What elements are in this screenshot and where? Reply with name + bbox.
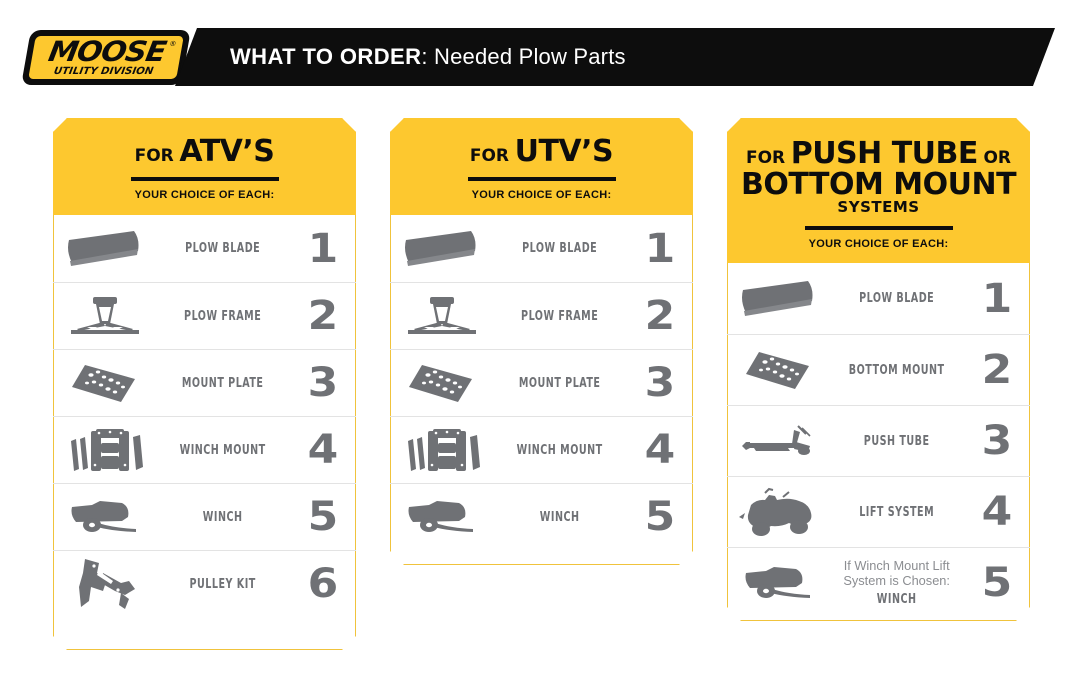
push-tube-icon: [727, 422, 830, 460]
card-push-tube: FOR PUSH TUBE OR BOTTOM MOUNT SYSTEMS YO…: [727, 118, 1030, 621]
row-number: 6: [286, 561, 359, 607]
plow-blade-icon: [390, 229, 493, 269]
page-header: MOOSE UTILITY DIVISION ® WHAT TO ORDER :…: [0, 0, 1080, 100]
card-push-tube-title: FOR PUSH TUBE OR BOTTOM MOUNT SYSTEMS: [727, 138, 1030, 216]
table-row[interactable]: WINCH 5: [53, 483, 356, 550]
moose-utility-division-logo: MOOSE UTILITY DIVISION ®: [21, 30, 191, 85]
mount-plate-icon: [53, 359, 156, 407]
row-number: 1: [623, 226, 696, 272]
row-label-with-note: If Winch Mount Lift System is Chosen: WI…: [842, 559, 951, 607]
row-label: PLOW BLADE: [505, 241, 614, 256]
table-row[interactable]: LIFT SYSTEM 4: [727, 476, 1030, 547]
card-utv-subtitle: YOUR CHOICE OF EACH:: [390, 189, 693, 201]
card-push-tube-rows: PLOW BLADE 1: [727, 263, 1030, 618]
row-label: WINCH MOUNT: [168, 443, 277, 458]
row-note: If Winch Mount Lift System is Chosen:: [831, 559, 962, 589]
table-row[interactable]: WINCH MOUNT 4: [53, 416, 356, 483]
winch-mount-icon: [390, 425, 493, 475]
card-utv: FOR UTV’S YOUR CHOICE OF EACH: PLOW BLAD…: [390, 118, 693, 565]
row-number: 2: [286, 293, 359, 339]
card-utv-header: FOR UTV’S YOUR CHOICE OF EACH:: [390, 118, 693, 215]
row-number: 2: [623, 293, 696, 339]
plow-frame-icon: [53, 294, 156, 338]
row-number: 1: [960, 276, 1033, 322]
lift-system-icon: [727, 487, 830, 537]
plow-frame-icon: [390, 294, 493, 338]
card-atv-title-main: ATV’S: [179, 134, 274, 169]
row-number: 5: [623, 494, 696, 540]
logo-tagline: UTILITY DIVISION: [27, 66, 180, 78]
card-utv-title-main: UTV’S: [515, 134, 614, 169]
table-row[interactable]: WINCH 5: [390, 483, 693, 550]
row-number: 4: [623, 427, 696, 473]
row-label: WINCH: [505, 510, 614, 525]
table-row[interactable]: WINCH MOUNT 4: [390, 416, 693, 483]
card-atv-divider: [131, 177, 279, 181]
row-label: WINCH MOUNT: [505, 443, 614, 458]
table-row[interactable]: PUSH TUBE 3: [727, 405, 1030, 476]
card-push-tube-title-prefix: FOR: [746, 148, 785, 168]
card-atv-title: FOR ATV’S: [53, 136, 356, 167]
bottom-mount-icon: [727, 346, 830, 394]
row-number: 3: [623, 360, 696, 406]
card-atv-title-prefix: FOR: [135, 146, 174, 166]
card-atv: FOR ATV’S YOUR CHOICE OF EACH: PLOW BLAD…: [53, 118, 356, 650]
row-label: MOUNT PLATE: [168, 376, 277, 391]
card-push-tube-title-line2: BOTTOM MOUNT: [727, 169, 1030, 200]
table-row[interactable]: PLOW BLADE 1: [390, 215, 693, 282]
plow-blade-icon: [53, 229, 156, 269]
table-row[interactable]: MOUNT PLATE 3: [53, 349, 356, 416]
card-utv-divider: [468, 177, 616, 181]
card-push-tube-title-line3: SYSTEMS: [727, 200, 1030, 216]
row-number: 5: [286, 494, 359, 540]
row-label: PLOW BLADE: [842, 291, 951, 306]
row-label: WINCH: [877, 592, 917, 607]
row-label: WINCH: [168, 510, 277, 525]
winch-icon: [727, 561, 830, 605]
card-push-tube-divider: [805, 226, 953, 230]
page-title: WHAT TO ORDER : Needed Plow Parts: [230, 28, 626, 86]
table-row[interactable]: PLOW FRAME 2: [53, 282, 356, 349]
row-number: 4: [286, 427, 359, 473]
row-label: PLOW FRAME: [168, 309, 277, 324]
card-push-tube-title-conj: OR: [983, 148, 1011, 168]
table-row[interactable]: PLOW BLADE 1: [727, 263, 1030, 334]
mount-plate-icon: [390, 359, 493, 407]
table-row[interactable]: MOUNT PLATE 3: [390, 349, 693, 416]
winch-mount-icon: [53, 425, 156, 475]
table-row[interactable]: PLOW FRAME 2: [390, 282, 693, 349]
pulley-kit-icon: [53, 557, 156, 611]
row-number: 5: [960, 560, 1033, 606]
row-label: PULLEY KIT: [168, 577, 277, 592]
card-atv-subtitle: YOUR CHOICE OF EACH:: [53, 189, 356, 201]
row-label: LIFT SYSTEM: [842, 505, 951, 520]
table-row[interactable]: BOTTOM MOUNT 2: [727, 334, 1030, 405]
winch-icon: [390, 495, 493, 539]
row-number: 3: [960, 418, 1033, 464]
row-number: 1: [286, 226, 359, 272]
page-title-light: : Needed Plow Parts: [421, 44, 625, 70]
card-push-tube-header: FOR PUSH TUBE OR BOTTOM MOUNT SYSTEMS YO…: [727, 118, 1030, 263]
row-label: PUSH TUBE: [842, 434, 951, 449]
plow-blade-icon: [727, 279, 830, 319]
table-row[interactable]: PULLEY KIT 6: [53, 550, 356, 617]
card-utv-title: FOR UTV’S: [390, 136, 693, 167]
row-number: 4: [960, 489, 1033, 535]
row-label: PLOW BLADE: [168, 241, 277, 256]
card-push-tube-subtitle: YOUR CHOICE OF EACH:: [727, 238, 1030, 250]
winch-icon: [53, 495, 156, 539]
card-atv-header: FOR ATV’S YOUR CHOICE OF EACH:: [53, 118, 356, 215]
row-label: BOTTOM MOUNT: [842, 363, 951, 378]
page-title-strong: WHAT TO ORDER: [230, 44, 421, 70]
logo-wordmark: MOOSE: [26, 37, 186, 67]
table-row[interactable]: PLOW BLADE 1: [53, 215, 356, 282]
card-utv-rows: PLOW BLADE 1 PLOW FRAME 2: [390, 215, 693, 550]
table-row[interactable]: If Winch Mount Lift System is Chosen: WI…: [727, 547, 1030, 618]
card-utv-title-prefix: FOR: [470, 146, 509, 166]
registered-trademark-icon: ®: [169, 40, 177, 48]
card-push-tube-title-main: PUSH TUBE: [791, 136, 978, 171]
row-label: PLOW FRAME: [505, 309, 614, 324]
card-atv-rows: PLOW BLADE 1 PLOW FRAME 2: [53, 215, 356, 617]
row-number: 2: [960, 347, 1033, 393]
logo-plate: MOOSE UTILITY DIVISION ®: [26, 34, 186, 81]
row-label: MOUNT PLATE: [505, 376, 614, 391]
row-number: 3: [286, 360, 359, 406]
